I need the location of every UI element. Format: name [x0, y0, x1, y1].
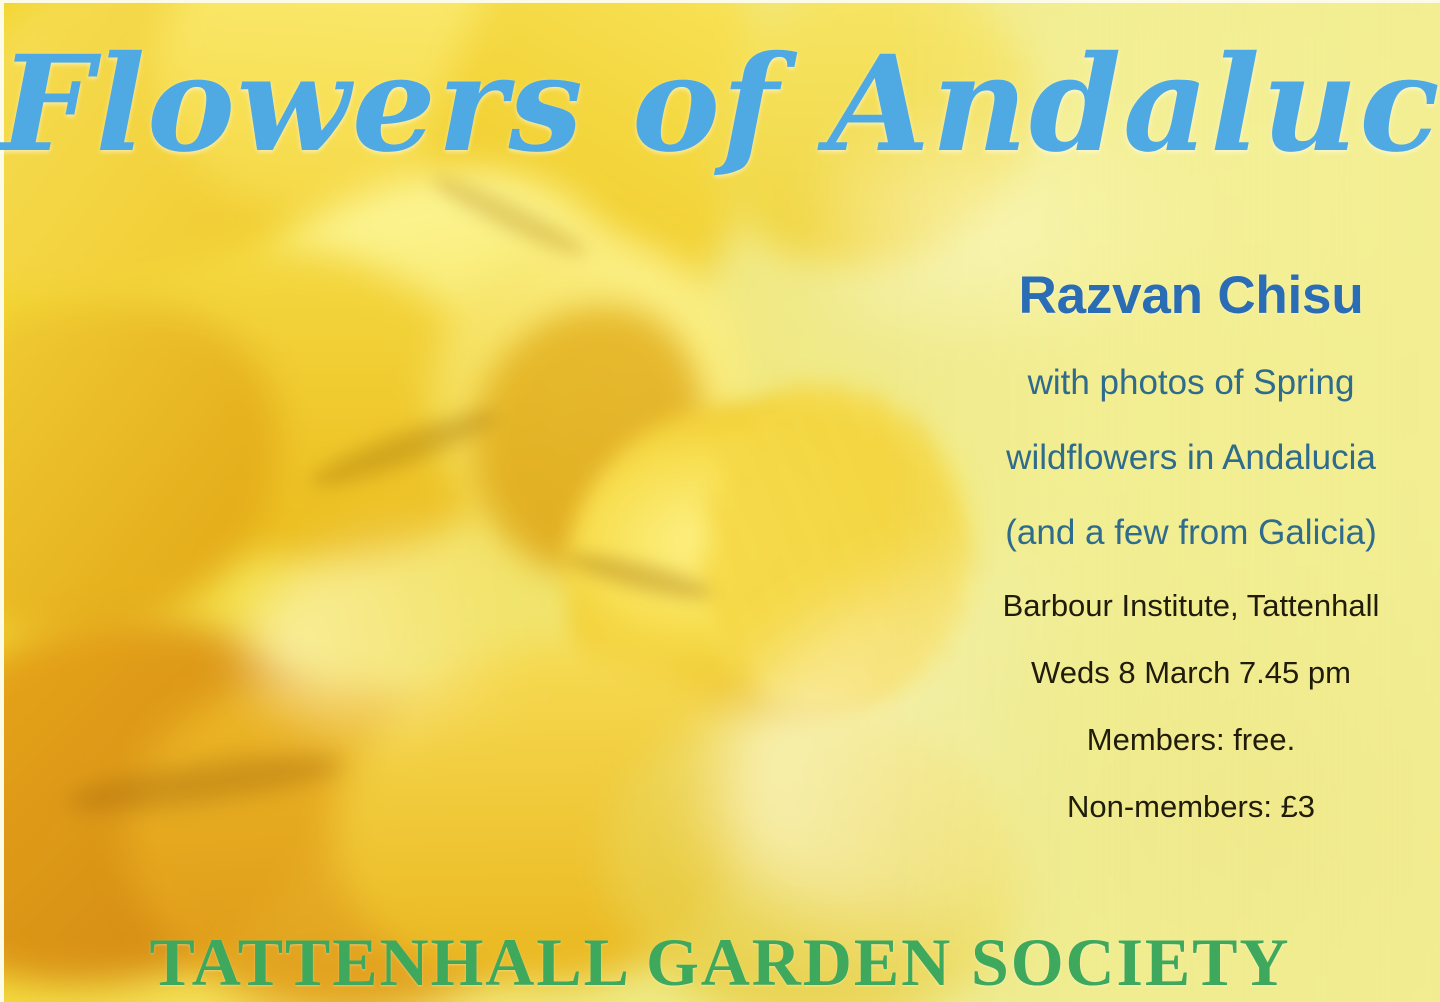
blurb-line-2: wildflowers in Andalucia [956, 439, 1426, 477]
blurb-line-3: (and a few from Galicia) [956, 514, 1426, 552]
poster-title: Flowers of Andalucia [0, 36, 1440, 175]
datetime-line: Weds 8 March 7.45 pm [956, 656, 1426, 690]
venue-line: Barbour Institute, Tattenhall [956, 589, 1426, 623]
poster-content: Flowers of Andalucia Razvan Chisu with p… [0, 0, 1440, 1002]
event-info-block: Razvan Chisu with photos of Spring wildf… [956, 268, 1426, 824]
blurb-line-1: with photos of Spring [956, 364, 1426, 402]
members-price-line: Members: free. [956, 723, 1426, 757]
speaker-name: Razvan Chisu [956, 268, 1426, 324]
non-members-price-line: Non-members: £3 [956, 790, 1426, 824]
organisation-name: TATTENHALL GARDEN SOCIETY [0, 928, 1440, 996]
event-poster: Flowers of Andalucia Razvan Chisu with p… [0, 0, 1440, 1002]
